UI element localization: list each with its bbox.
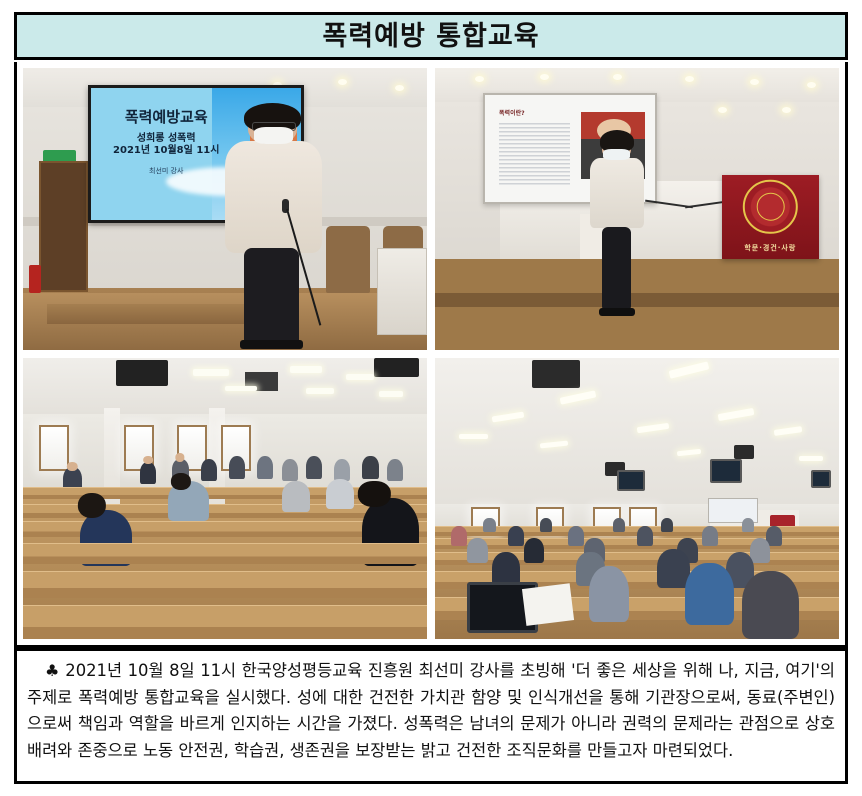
caption-paragraph: ♣ 2021년 10월 8일 11시 한국양성평등교육 진흥원 최선미 강사를 … (27, 658, 835, 764)
slide-presenter: 최선미 강사 (103, 166, 229, 176)
speaker-figure (589, 130, 646, 316)
university-seal-icon (743, 180, 797, 234)
slide-heading: 폭력예방교육 (103, 109, 229, 126)
page-title: 폭력예방 통합교육 (322, 23, 539, 50)
photo-top-right: 폭력이란? 학문·경건·사랑 (435, 68, 839, 350)
wall-monitor-icon (617, 470, 645, 491)
slide-datetime: 2021년 10월8일 11시 (103, 145, 229, 158)
photo-top-left: 폭력예방교육 성희롱 성폭력 2021년 10월8일 11시 최선미 강사 (23, 68, 427, 350)
photo-bottom-right (435, 358, 839, 640)
slide-heading: 폭력이란? (499, 108, 525, 117)
banner-motto: 학문·경건·사랑 (722, 243, 819, 253)
ceiling-monitor-icon (116, 360, 169, 385)
page-title-bar: 폭력예방 통합교육 (14, 12, 848, 60)
fire-extinguisher-icon (29, 265, 41, 293)
report-page: 폭력예방 통합교육 (0, 0, 862, 796)
speaker-figure (221, 107, 326, 349)
caption-body: 2021년 10월 8일 11시 한국양성평등교육 진흥원 최선미 강사를 초빙… (27, 661, 835, 760)
photo-bottom-left (23, 358, 427, 640)
university-banner: 학문·경건·사랑 (722, 175, 819, 259)
caption-box: ♣ 2021년 10월 8일 11시 한국양성평등교육 진흥원 최선미 강사를 … (14, 648, 848, 784)
wall-monitor-icon (811, 470, 831, 488)
slide-subtitle: 성희롱 성폭력 (103, 133, 229, 146)
photo-grid: 폭력예방교육 성희롱 성폭력 2021년 10월8일 11시 최선미 강사 (14, 62, 848, 648)
ceiling-monitor-icon (374, 358, 418, 378)
clover-bullet-icon: ♣ (45, 661, 60, 680)
wall-monitor-icon (710, 459, 742, 483)
